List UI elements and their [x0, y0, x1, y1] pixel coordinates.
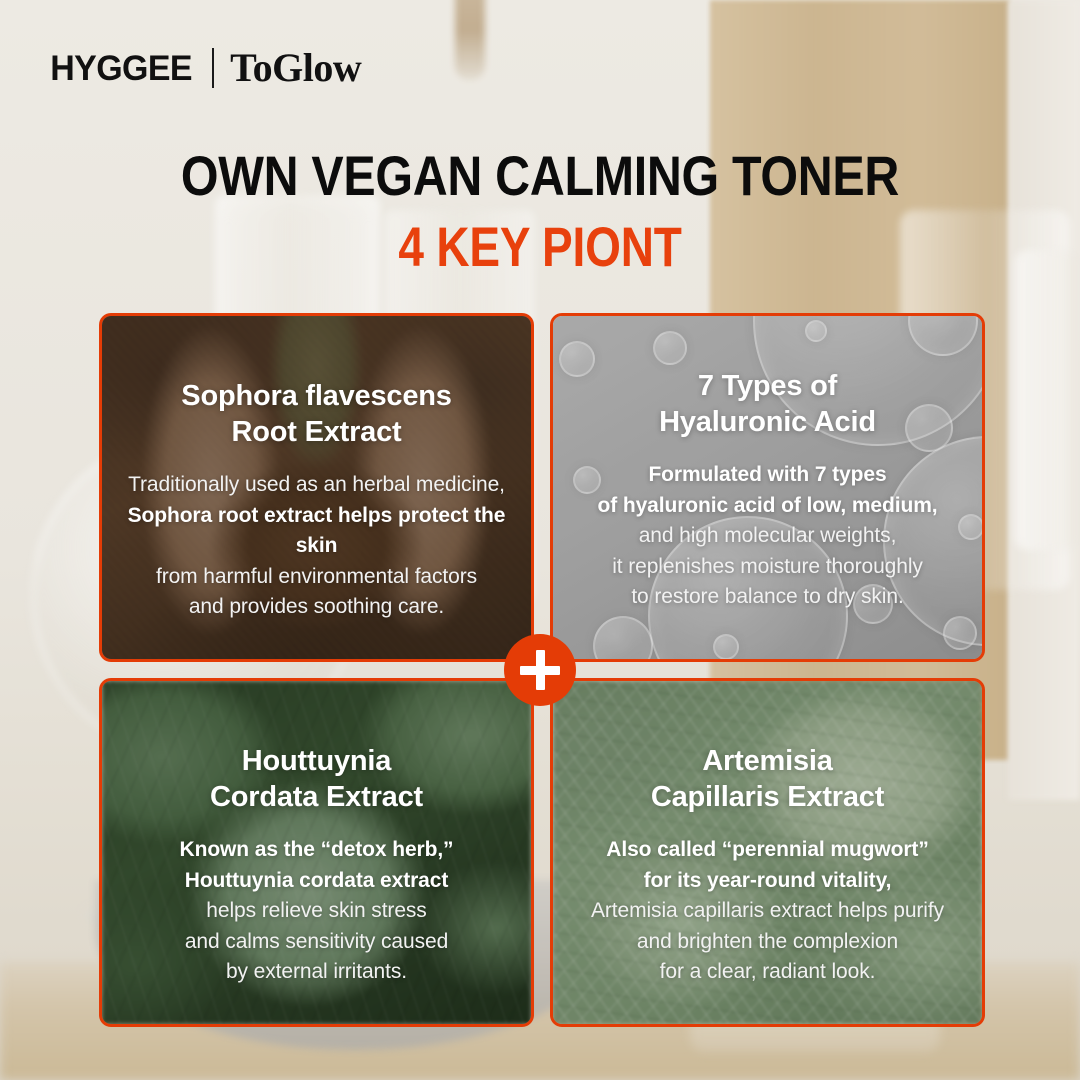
card-artemisia-description: Also called “perennial mugwort” for its … [591, 835, 944, 987]
card-sophora[interactable]: Sophora flavescens Root Extract Traditio… [99, 313, 534, 662]
card-desc-line: Sophora root extract helps protect the s… [118, 501, 515, 562]
card-hyaluronic-content: 7 Types of Hyaluronic Acid Formulated wi… [553, 316, 982, 659]
brand-logo: HYGGEE ToGlow [48, 48, 361, 88]
card-title-line1: Houttuynia [210, 744, 423, 780]
card-desc-line: helps relieve skin stress [180, 896, 454, 926]
card-sophora-description: Traditionally used as an herbal medicine… [118, 470, 515, 622]
card-desc-line: for a clear, radiant look. [591, 957, 944, 987]
card-desc-line: from harmful environmental factors [118, 562, 515, 592]
card-sophora-title: Sophora flavescens Root Extract [181, 379, 451, 450]
card-title-line1: Sophora flavescens [181, 379, 451, 415]
card-desc-line: to restore balance to dry skin. [597, 582, 937, 612]
card-hyaluronic-description: Formulated with 7 types of hyaluronic ac… [597, 460, 937, 612]
card-desc-line: Artemisia capillaris extract helps purif… [591, 896, 944, 926]
card-desc-line: Traditionally used as an herbal medicine… [118, 470, 515, 500]
card-title-line1: 7 Types of [659, 369, 876, 405]
card-desc-line: Formulated with 7 types [597, 460, 937, 490]
page-title: OWN VEGAN CALMING TONER [0, 148, 1080, 206]
card-sophora-content: Sophora flavescens Root Extract Traditio… [102, 316, 531, 659]
page-subtitle: 4 KEY PIONT [0, 219, 1080, 274]
header-block: OWN VEGAN CALMING TONER 4 KEY PIONT [0, 148, 1080, 265]
card-hyaluronic[interactable]: 7 Types of Hyaluronic Acid Formulated wi… [550, 313, 985, 662]
plus-vertical-bar [536, 650, 545, 690]
card-title-line2: Hyaluronic Acid [659, 405, 876, 441]
card-artemisia[interactable]: Artemisia Capillaris Extract Also called… [550, 678, 985, 1027]
brand-sub-name: ToGlow [230, 48, 361, 88]
card-desc-line: and calms sensitivity caused [180, 927, 454, 957]
card-desc-line: by external irritants. [180, 957, 454, 987]
card-houttuynia-title: Houttuynia Cordata Extract [210, 744, 423, 815]
card-houttuynia-description: Known as the “detox herb,” Houttuynia co… [180, 835, 454, 987]
card-houttuynia-content: Houttuynia Cordata Extract Known as the … [102, 681, 531, 1024]
card-desc-line: it replenishes moisture thoroughly [597, 552, 937, 582]
card-artemisia-title: Artemisia Capillaris Extract [651, 744, 884, 815]
card-desc-line: and high molecular weights, [597, 521, 937, 551]
card-desc-line: of hyaluronic acid of low, medium, [597, 491, 937, 521]
card-desc-line: for its year-round vitality, [591, 866, 944, 896]
brand-divider [212, 48, 214, 88]
brand-name: HYGGEE [50, 51, 192, 86]
card-desc-line: Also called “perennial mugwort” [591, 835, 944, 865]
plus-icon [504, 634, 576, 706]
background-dropper [455, 0, 485, 80]
card-desc-line: Known as the “detox herb,” [180, 835, 454, 865]
card-title-line2: Root Extract [181, 415, 451, 451]
card-houttuynia[interactable]: Houttuynia Cordata Extract Known as the … [99, 678, 534, 1027]
card-hyaluronic-title: 7 Types of Hyaluronic Acid [659, 369, 876, 440]
card-desc-line: and provides soothing care. [118, 592, 515, 622]
card-desc-line: and brighten the complexion [591, 927, 944, 957]
card-desc-line: Houttuynia cordata extract [180, 866, 454, 896]
card-artemisia-content: Artemisia Capillaris Extract Also called… [553, 681, 982, 1024]
card-title-line2: Capillaris Extract [651, 780, 884, 816]
background-glass-tube [1015, 250, 1075, 550]
card-title-line2: Cordata Extract [210, 780, 423, 816]
card-title-line1: Artemisia [651, 744, 884, 780]
